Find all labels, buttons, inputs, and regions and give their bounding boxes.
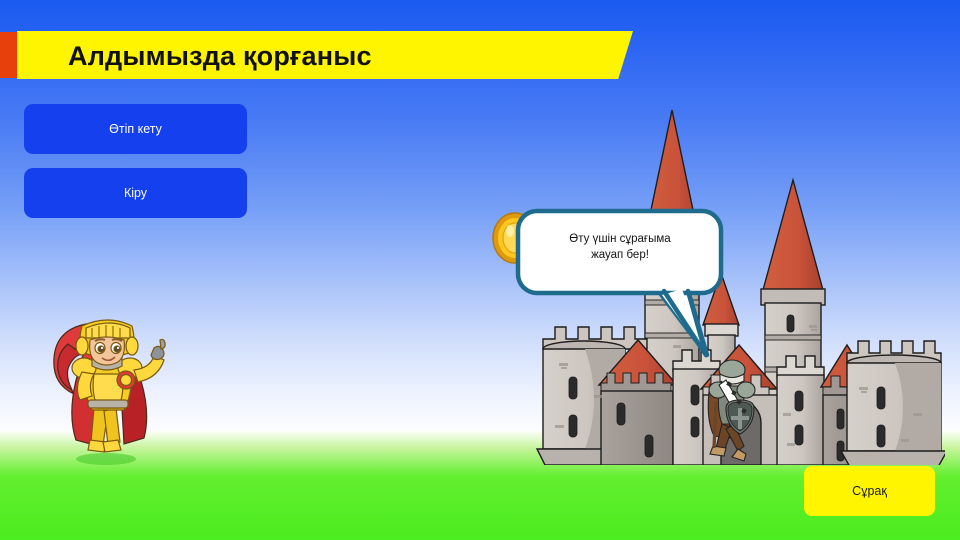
enter-button[interactable]: Кіру: [24, 168, 247, 218]
castle-guard-character: [702, 350, 766, 462]
page-title: Алдымызда қорғаныс: [68, 37, 628, 77]
speech-bubble: Өту үшін сұрағыма жауап бер!: [512, 205, 727, 365]
skip-button[interactable]: Өтіп кету: [24, 104, 247, 154]
question-button[interactable]: Сұрақ: [804, 466, 935, 516]
slide-stage: Өту үшін сұрағыма жауап бер!: [0, 0, 960, 540]
knight-character: [38, 296, 178, 466]
banner-accent-bar: [0, 32, 17, 78]
speech-bubble-text: Өту үшін сұрағыма жауап бер!: [534, 231, 706, 263]
